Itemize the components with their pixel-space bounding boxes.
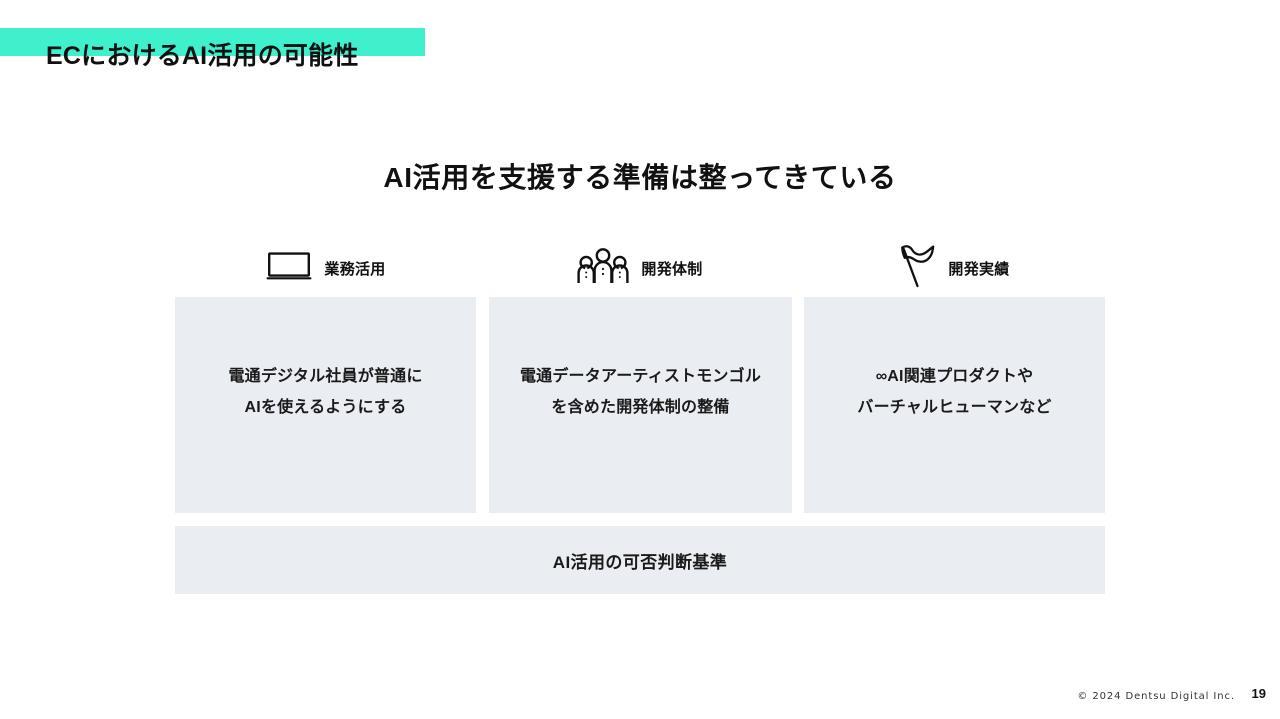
card-line: バーチャルヒューマンなど [857,392,1051,423]
flag-icon [898,244,936,293]
card-line: ∞AI関連プロダクトや [857,361,1051,392]
column-label-2: 開発体制 [641,258,702,279]
summary-bar-label: AI活用の可否判断基準 [553,548,727,573]
main-heading: AI活用を支援する準備は整ってきている [0,156,1280,196]
column-header-3: 開発実績 [803,243,1105,293]
card-line: 電通デジタル社員が普通に [228,361,422,392]
card-line: 電通データアーティストモンゴル [520,361,761,392]
column-label-3: 開発実績 [948,258,1009,279]
column-header-2: 開発体制 [489,243,791,293]
column-headers: 業務活用 [175,243,1105,293]
content-card-2: 電通データアーティストモンゴル を含めた開発体制の整備 [489,297,792,513]
card-text-3: ∞AI関連プロダクトや バーチャルヒューマンなど [857,361,1051,423]
column-header-1: 業務活用 [175,243,477,293]
page-title: ECにおけるAI活用の可能性 [46,39,359,73]
card-line: AIを使えるようにする [228,392,422,423]
card-text-2: 電通データアーティストモンゴル を含めた開発体制の整備 [520,361,761,423]
card-line: を含めた開発体制の整備 [520,392,761,423]
page-number: 19 [1252,686,1266,701]
people-group-icon [577,248,629,289]
content-card-3: ∞AI関連プロダクトや バーチャルヒューマンなど [804,297,1105,513]
copyright-notice: © 2024 Dentsu Digital Inc. [1077,691,1235,702]
summary-bar: AI活用の可否判断基準 [175,526,1105,594]
slide-canvas: ECにおけるAI活用の可能性 AI活用を支援する準備は整ってきている 業務活用 [0,0,1280,719]
column-label-1: 業務活用 [324,258,385,279]
laptop-icon [266,252,312,285]
content-card-1: 電通デジタル社員が普通に AIを使えるようにする [175,297,476,513]
card-text-1: 電通デジタル社員が普通に AIを使えるようにする [228,361,422,423]
